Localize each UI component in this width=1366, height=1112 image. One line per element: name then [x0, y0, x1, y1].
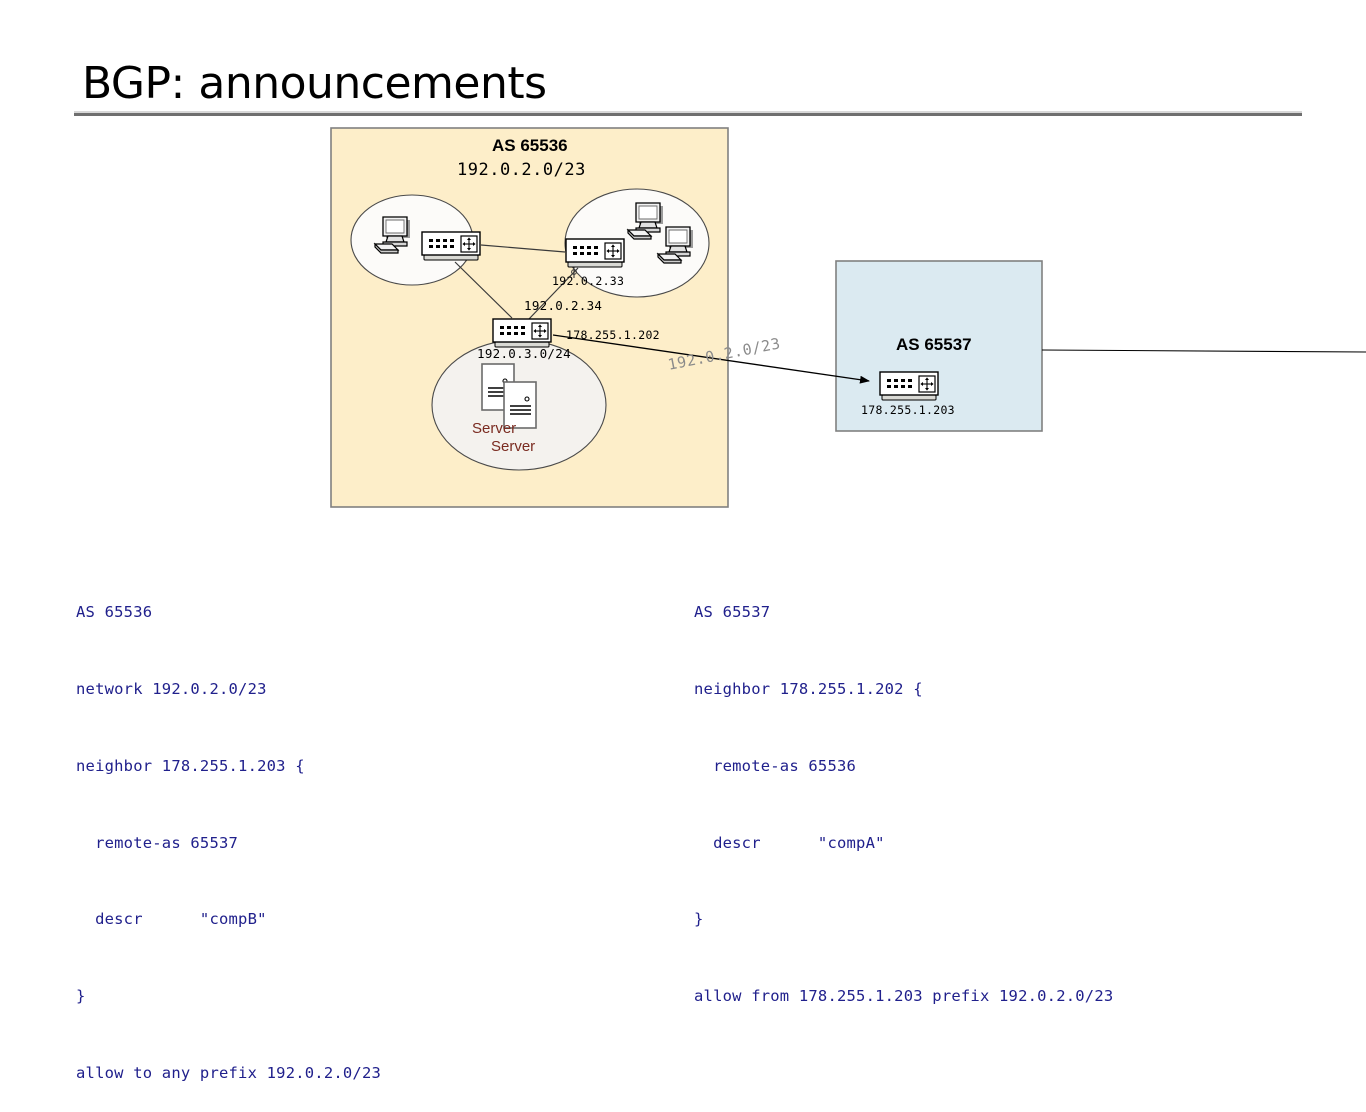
config-line: allow from 178.255.1.203 prefix 192.0.2.…	[694, 984, 1113, 1010]
server-subnet-prefix: 192.0.3.0/24	[477, 346, 571, 361]
server-label-front: Server	[491, 438, 535, 455]
config-line: descr "compA"	[694, 831, 1113, 857]
config-line: neighbor 178.255.1.203 {	[76, 754, 381, 780]
config-block-as-65537: AS 65537 neighbor 178.255.1.202 { remote…	[694, 549, 1113, 1035]
interface-label-192-0-2-34: 192.0.2.34	[524, 298, 602, 313]
title-divider	[74, 111, 1302, 116]
router-icon-right[interactable]	[566, 239, 624, 267]
as-65536-heading: AS 65536	[492, 136, 568, 156]
config-line: }	[76, 984, 381, 1010]
page-title: BGP: announcements	[82, 58, 547, 109]
config-block-as-65536: AS 65536 network 192.0.2.0/23 neighbor 1…	[76, 549, 381, 1112]
router-icon-as65537[interactable]	[880, 372, 938, 400]
config-line: remote-as 65537	[76, 831, 381, 857]
config-line: network 192.0.2.0/23	[76, 677, 381, 703]
as-65536-prefix: 192.0.2.0/23	[457, 160, 586, 180]
interface-label-192-0-2-33: 192.0.2.33	[552, 274, 624, 288]
config-line: descr "compB"	[76, 907, 381, 933]
peer-link-edge	[1042, 350, 1366, 352]
as-65537-router-label: 178.255.1.203	[861, 403, 955, 417]
interface-label-178-255-1-202: 178.255.1.202	[566, 328, 660, 342]
config-line: AS 65537	[694, 600, 1113, 626]
router-icon-left[interactable]	[422, 232, 480, 260]
server-label-back: Server	[472, 420, 516, 437]
config-line: }	[694, 907, 1113, 933]
config-line: remote-as 65536	[694, 754, 1113, 780]
config-line: allow to any prefix 192.0.2.0/23	[76, 1061, 381, 1087]
config-line: AS 65536	[76, 600, 381, 626]
config-line: neighbor 178.255.1.202 {	[694, 677, 1113, 703]
as-65537-heading: AS 65537	[896, 335, 972, 355]
router-icon-core[interactable]	[493, 319, 551, 347]
